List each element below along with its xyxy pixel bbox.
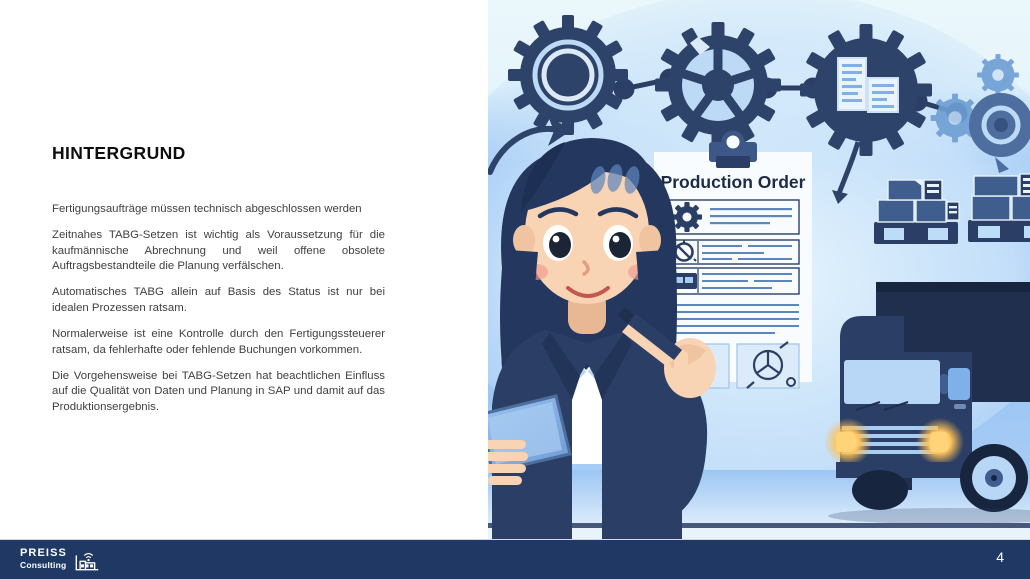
brand-name: PREISS: [20, 548, 67, 559]
page-title: HINTERGRUND: [52, 143, 186, 164]
illustration-image: Production Order: [488, 0, 1030, 540]
text-column: HINTERGRUND Fertigungsaufträge müssen te…: [0, 0, 488, 540]
factory-wifi-icon: [74, 546, 100, 572]
paragraph-3: Automatisches TABG allein auf Basis des …: [52, 285, 385, 316]
footer-bar: PREISS Consulting: [0, 540, 1030, 579]
paragraph-2: Zeitnahes TABG-Setzen ist wichtig als Vo…: [52, 228, 385, 275]
clipboard-title: Production Order: [661, 172, 806, 192]
brand-logo-text: PREISS Consulting: [20, 548, 67, 570]
slide: HINTERGRUND Fertigungsaufträge müssen te…: [0, 0, 1030, 579]
brand-logo[interactable]: PREISS Consulting: [20, 546, 100, 572]
paragraph-1: Fertigungsaufträge müssen technisch abge…: [52, 202, 385, 218]
brand-tagline: Consulting: [20, 561, 67, 570]
page-number: 4: [996, 549, 1004, 565]
paragraph-4: Normalerweise ist eine Kontrolle durch d…: [52, 327, 385, 358]
paragraph-5: Die Vorgehensweise bei TABG-Setzen hat b…: [52, 369, 385, 416]
body-copy: Fertigungsaufträge müssen technisch abge…: [52, 202, 385, 416]
